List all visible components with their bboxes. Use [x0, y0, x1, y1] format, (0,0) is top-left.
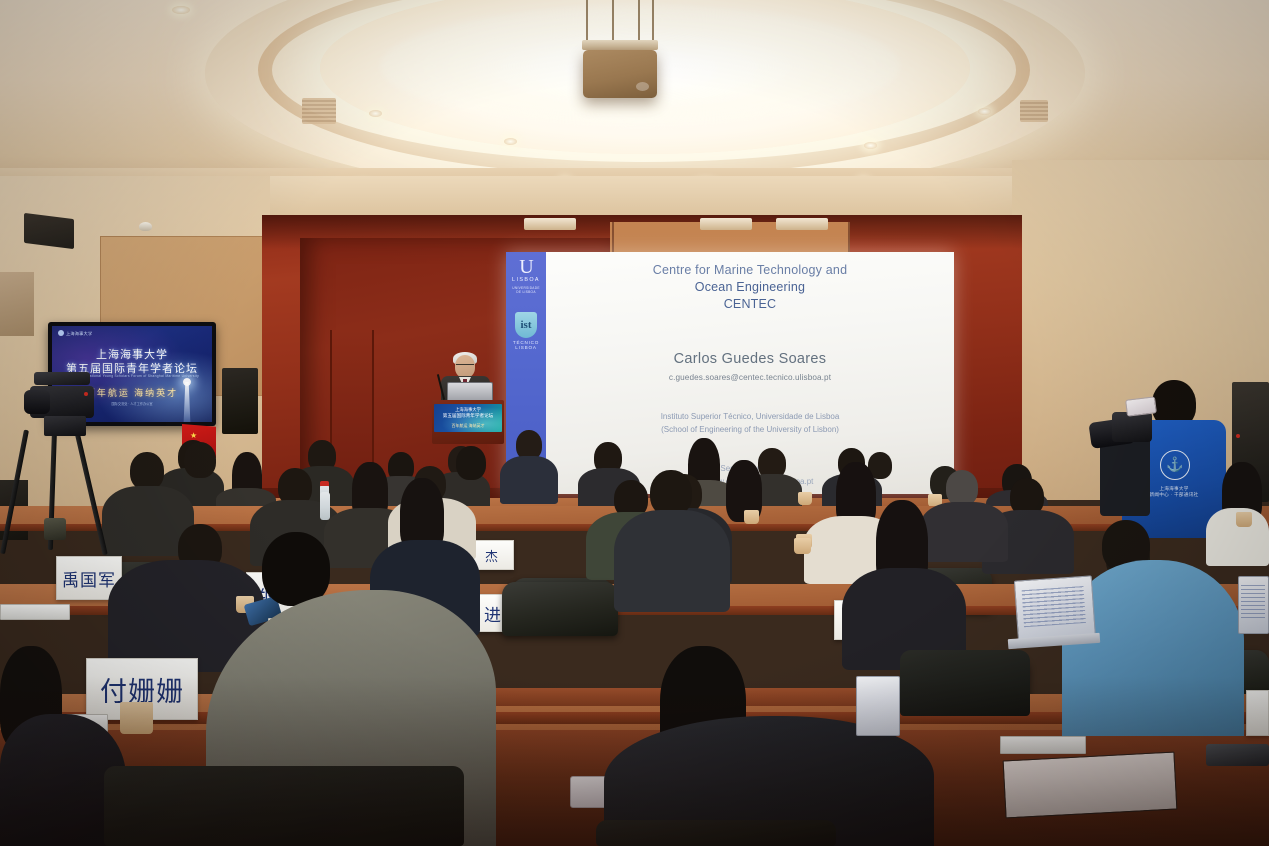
ul-logo-subtitle: UNIVERSIDADE DE LISBOA	[512, 286, 540, 294]
downlight-10	[172, 6, 190, 14]
ceiling-projector	[583, 50, 657, 98]
slide-affiliation-line2: (School of Engineering of the University…	[661, 425, 839, 434]
laptop-document-lines	[1022, 586, 1087, 627]
track-light-1	[524, 218, 576, 230]
chair-r2-1	[502, 582, 618, 636]
audience-head-m11	[456, 446, 486, 480]
paper-cup-far-1	[798, 492, 812, 505]
speaker-glasses	[456, 364, 474, 368]
paper-cup-r3-1	[744, 510, 759, 524]
chair-front-3	[900, 650, 1030, 716]
wall-panel-left-lower	[0, 272, 34, 336]
tripod-head	[44, 416, 86, 436]
camera-monitor-phone[interactable]	[1125, 396, 1157, 417]
slide-title: Centre for Marine Technology and Ocean E…	[653, 262, 847, 313]
universidade-lisboa-logo: U LISBOA UNIVERSIDADE DE LISBOA	[512, 258, 540, 294]
conference-hall-photo: U LISBOA UNIVERSIDADE DE LISBOA ist TÉCN…	[0, 0, 1269, 846]
audience-body-n2	[614, 510, 730, 612]
smu-logo-icon: 上海海事大学	[58, 330, 92, 337]
paper-cup-right	[1236, 512, 1252, 527]
ceiling-vent-left	[302, 98, 336, 124]
paper-stack-left	[0, 604, 70, 620]
audience-body-f1	[500, 456, 558, 504]
track-light-3	[776, 218, 828, 230]
slide-affiliation-line1: Instituto Superior Técnico, Universidade…	[661, 412, 840, 421]
paper-cup-r2-2	[794, 538, 811, 554]
paper-cup-front-1	[120, 702, 153, 734]
camera-record-led	[84, 392, 88, 396]
chair-front-1	[104, 766, 464, 846]
audience-head-m7	[184, 442, 216, 478]
paper-pack-right	[1000, 736, 1086, 754]
wall-speaker-left	[24, 213, 74, 249]
slide-title-line2: Ocean Engineering	[695, 280, 805, 294]
slide-presenter-email: c.guedes.soares@centec.tecnico.ulisboa.p…	[669, 373, 831, 382]
downlight-4	[978, 108, 991, 115]
podium-laptop	[447, 382, 493, 402]
ul-logo-mark: U	[512, 258, 540, 276]
downlight-1	[369, 110, 382, 117]
chair-front-2	[596, 820, 836, 846]
vest-org-line2: 新闻中心 · 干部通讯社	[1149, 492, 1198, 497]
tripod-weight	[44, 518, 66, 540]
left-camera-hood	[34, 372, 90, 385]
slide-affiliation: Instituto Superior Técnico, Universidade…	[661, 410, 840, 436]
laptop-document-lines-2	[1241, 585, 1265, 619]
audience-head-m5	[946, 470, 978, 506]
podium-sign-line3: 百年航运 海纳英才	[434, 423, 502, 429]
audience-body-m5	[920, 502, 1008, 562]
slide-presenter-name: Carlos Guedes Soares	[674, 351, 827, 367]
bottle-cap-1	[320, 481, 329, 486]
foreground-head-1	[262, 532, 330, 606]
laptop-screen-far-right[interactable]	[1238, 576, 1269, 634]
ist-logo-name: TÉCNICO LISBOA	[506, 340, 546, 351]
left-camera-lens	[24, 390, 50, 414]
projector-mount	[578, 0, 662, 48]
slide-title-line1: Centre for Marine Technology and	[653, 262, 847, 279]
right-camera-body	[1112, 412, 1152, 442]
ist-shield-icon: ist	[515, 312, 537, 338]
slide-title-line3: CENTEC	[724, 297, 777, 311]
ceiling-vent-right	[1020, 100, 1048, 122]
stage-speaker-right	[222, 368, 258, 434]
notepad-folder	[1003, 752, 1178, 819]
tablet-on-table[interactable]	[1206, 744, 1269, 766]
audience-head-m12	[130, 452, 164, 490]
track-light-2	[700, 218, 752, 230]
ul-logo-name: LISBOA	[512, 277, 540, 283]
downlight-2	[504, 138, 517, 145]
smu-vest-logo-icon: ⚓	[1160, 450, 1190, 480]
water-bottle-2	[320, 492, 330, 520]
laptop-screen-center[interactable]	[856, 676, 900, 736]
podium-sign-line2: 第五届国际青年学者论坛	[434, 413, 502, 419]
speaker-led-indicator	[1236, 434, 1240, 438]
vest-org-line1: 上海海事大学	[1159, 486, 1188, 491]
podium-sign: 上海海事大学 第五届国际青年学者论坛 百年航运 海纳英才	[434, 404, 502, 432]
dome-camera-icon	[139, 222, 152, 231]
nameplate-partial-right	[1246, 690, 1269, 736]
downlight-3	[864, 142, 877, 149]
flag-star-icon: ★	[190, 432, 197, 440]
